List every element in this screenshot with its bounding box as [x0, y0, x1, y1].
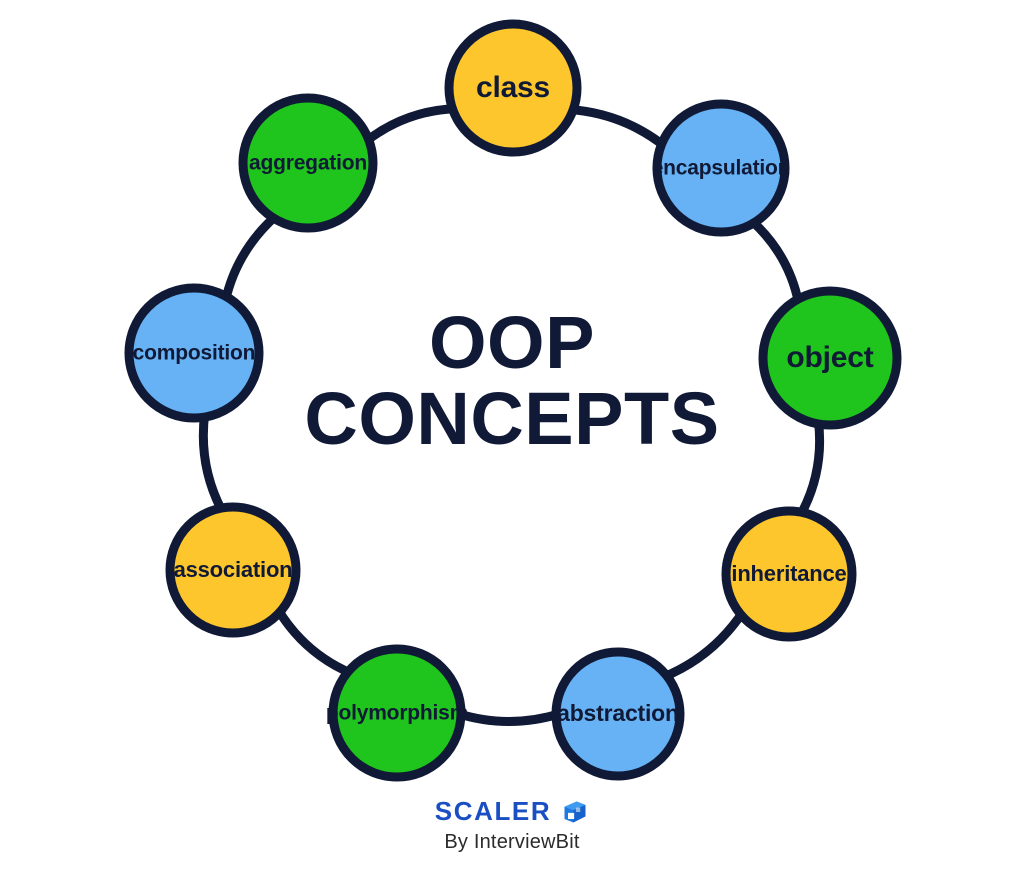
diagram-canvas: classencapsulationobjectinheritanceabstr…: [0, 0, 1024, 870]
connector-object-to-inheritance: [800, 420, 820, 516]
node-class[interactable]: class: [449, 24, 577, 152]
brand-name: SCALER: [435, 798, 552, 824]
page-title-line-1: OOP: [429, 301, 595, 384]
scaler-cube-logo-icon: [561, 798, 589, 826]
node-label-aggregation: aggregation: [249, 152, 367, 175]
node-label-composition: composition: [133, 342, 256, 365]
connector-encapsulation-to-object: [751, 220, 799, 303]
node-label-abstraction: abstraction: [557, 700, 679, 726]
oop-concepts-cycle-diagram: classencapsulationobjectinheritanceabstr…: [0, 0, 1024, 870]
node-abstraction[interactable]: abstraction: [556, 652, 680, 776]
node-label-object: object: [786, 341, 873, 374]
connector-composition-to-aggregation: [225, 215, 276, 300]
connector-abstraction-to-polymorphism: [457, 713, 560, 721]
connector-association-to-composition: [203, 413, 222, 512]
connector-aggregation-to-class: [365, 109, 456, 142]
page-title-line-2: CONCEPTS: [304, 377, 719, 460]
node-label-class: class: [476, 71, 550, 104]
node-label-inheritance: inheritance: [731, 561, 846, 586]
brand-tagline: By InterviewBit: [0, 832, 1024, 852]
connector-inheritance-to-abstraction: [663, 611, 743, 677]
node-inheritance[interactable]: inheritance: [726, 511, 852, 637]
node-label-encapsulation: encapsulation: [652, 157, 791, 180]
node-composition[interactable]: composition: [129, 288, 259, 418]
connector-class-to-encapsulation: [569, 110, 665, 147]
node-label-polymorphism: polymorphism: [326, 702, 468, 725]
node-aggregation[interactable]: aggregation: [243, 98, 373, 228]
node-polymorphism[interactable]: polymorphism: [326, 649, 468, 777]
node-object[interactable]: object: [763, 291, 897, 425]
page-title: OOP CONCEPTS: [304, 301, 719, 460]
connector-polymorphism-to-association: [278, 609, 352, 674]
node-encapsulation[interactable]: encapsulation: [652, 104, 791, 232]
brand-block: SCALER By InterviewBit: [0, 797, 1024, 852]
node-association[interactable]: association: [170, 507, 296, 633]
node-label-association: association: [174, 557, 293, 582]
brand-name-row: SCALER: [0, 797, 1024, 825]
